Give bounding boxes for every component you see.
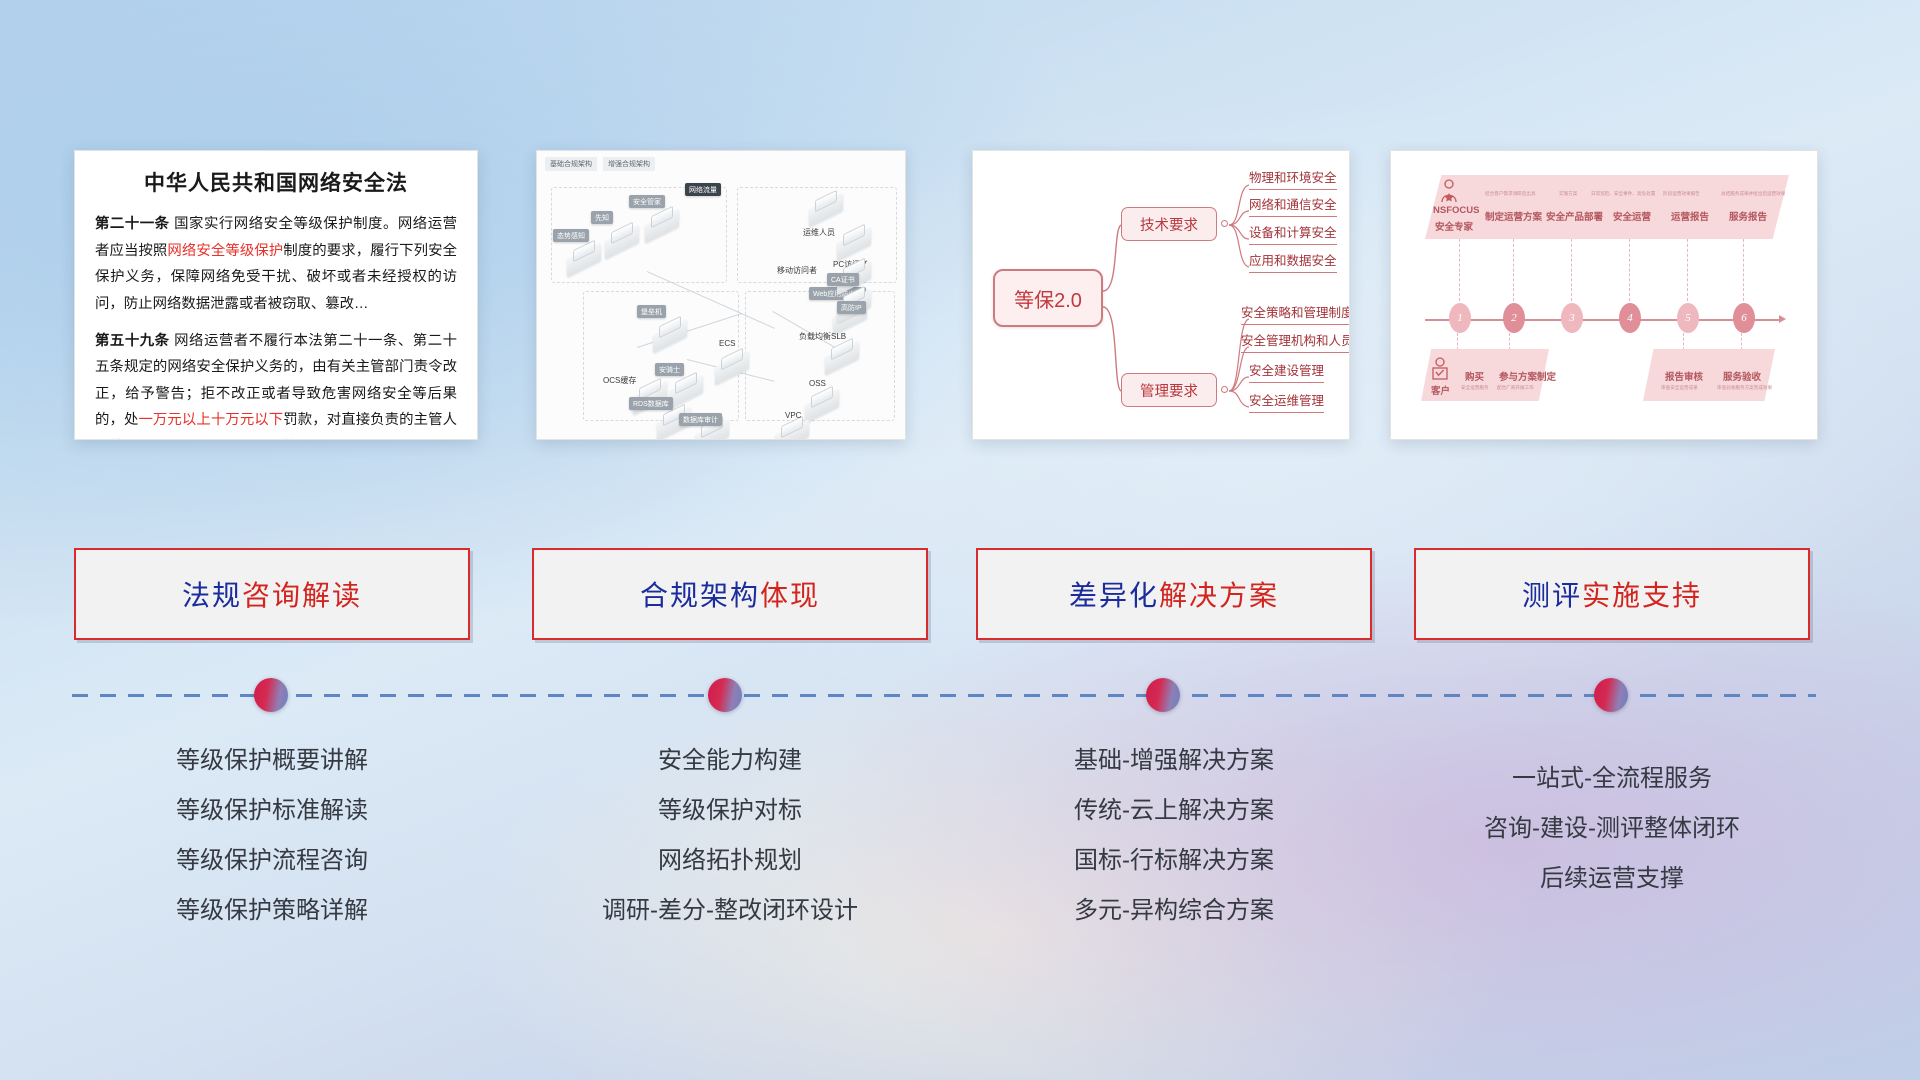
service-connector-5 xyxy=(1687,239,1688,301)
service-connector-6 xyxy=(1743,239,1744,301)
timeline-dashed-line xyxy=(72,694,1816,697)
customer-action-2-sub: 配合厂商开展工作 xyxy=(1497,385,1534,391)
list-item[interactable]: 国标-行标解决方案 xyxy=(976,836,1372,886)
customer-action-4-sub: 审查验收服务方案完成效果 xyxy=(1717,385,1772,391)
timeline-marker-3[interactable] xyxy=(1146,678,1180,712)
mindmap-leaf-tech-1[interactable]: 物理和环境安全 xyxy=(1249,171,1337,190)
architecture-node-icon-xianzhi xyxy=(605,225,639,251)
architecture-tab-group: 基础合规架构 增强合规架构 xyxy=(545,157,655,171)
header-label-differentiated-solution: 差异化解决方案 xyxy=(1069,574,1279,614)
mindmap-leaf-mgmt-3[interactable]: 安全建设管理 xyxy=(1249,364,1324,383)
expert-person-icon xyxy=(1439,179,1459,203)
list-item[interactable]: 一站式-全流程服务 xyxy=(1414,754,1810,804)
architecture-tab-enhanced[interactable]: 增强合规架构 xyxy=(603,157,655,171)
law-article-59: 第五十九条 网络运营者不履行本法第二十一条、第二十五条规定的网络安全保护义务的，… xyxy=(95,328,457,440)
service-step-3-main: 安全运营 xyxy=(1613,209,1651,223)
customer-action-3-sub: 审查安全运营成果 xyxy=(1661,385,1698,391)
service-connector-4 xyxy=(1629,239,1630,301)
law-article-59-text-c: 罚款。 xyxy=(268,439,311,440)
detail-list-regulation-consulting: 等级保护概要讲解 等级保护标准解读 等级保护流程咨询 等级保护策略详解 xyxy=(74,736,470,936)
architecture-node-icon-slb xyxy=(825,341,859,367)
law-article-59-label: 第五十九条 xyxy=(95,333,170,349)
customer-action-1-main: 购买 xyxy=(1465,369,1484,383)
header-label-compliance-architecture: 合规架构体现 xyxy=(640,574,820,614)
mindmap-leaf-mgmt-4[interactable]: 安全运维管理 xyxy=(1249,394,1324,413)
service-step-5-main: 服务报告 xyxy=(1729,209,1767,223)
mindmap-branch-management[interactable]: 管理要求 xyxy=(1121,373,1217,407)
law-article-21: 第二十一条 国家实行网络安全等级保护制度。网络运营者应当按照网络安全等级保护制度… xyxy=(95,211,457,318)
architecture-node-icon-oss xyxy=(805,389,839,415)
law-body: 中华人民共和国网络安全法 第二十一条 国家实行网络安全等级保护制度。网络运营者应… xyxy=(75,151,477,440)
architecture-node-label-network-traffic: 网络流量 xyxy=(685,183,721,196)
list-item[interactable]: 等级保护流程咨询 xyxy=(74,836,470,886)
architecture-node-label-ops-person: 运维人员 xyxy=(799,225,839,239)
expert-brand-label: NSFOCUS xyxy=(1433,205,1479,216)
architecture-node-icon-situational xyxy=(567,243,601,269)
card-cybersecurity-law[interactable]: 中华人民共和国网络安全法 第二十一条 国家实行网络安全等级保护制度。网络运营者应… xyxy=(74,150,478,440)
header-label-blue-4: 测评 xyxy=(1522,580,1582,611)
list-item[interactable]: 基础-增强解决方案 xyxy=(976,736,1372,786)
service-flow-axis xyxy=(1425,319,1781,321)
mindmap-collapse-icon-technical[interactable] xyxy=(1221,220,1228,227)
architecture-node-icon-pc-visitor xyxy=(837,227,871,253)
customer-action-3-main: 报告审核 xyxy=(1665,369,1703,383)
mindmap-leaf-tech-3[interactable]: 设备和计算安全 xyxy=(1249,226,1337,245)
architecture-node-label-anqishi: 安骑士 xyxy=(655,363,684,376)
service-step-marker-4[interactable]: 4 xyxy=(1619,303,1641,333)
architecture-diagram: 基础合规架构 增强合规架构 网络流量 态势感知 先知 安全管家 运维人员 PC访… xyxy=(537,151,905,439)
law-article-21-label: 第二十一条 xyxy=(95,216,170,232)
law-article-59-highlight-1: 一万元以上十万元以下 xyxy=(138,412,283,428)
architecture-node-label-slb: 负载均衡SLB xyxy=(795,329,850,343)
architecture-node-label-xianzhi: 先知 xyxy=(591,211,613,224)
list-item[interactable]: 等级保护标准解读 xyxy=(74,786,470,836)
architecture-node-label-situational: 态势感知 xyxy=(553,229,589,242)
header-label-assessment-support: 测评实施支持 xyxy=(1522,574,1702,614)
header-label-blue-3: 差异化 xyxy=(1069,580,1159,611)
service-step-marker-1[interactable]: 1 xyxy=(1449,303,1471,333)
architecture-node-label-rds: RDS数据库 xyxy=(629,397,673,410)
detail-list-row: 等级保护概要讲解 等级保护标准解读 等级保护流程咨询 等级保护策略详解 安全能力… xyxy=(0,736,1920,966)
list-item[interactable]: 安全能力构建 xyxy=(532,736,928,786)
service-connector-1 xyxy=(1459,239,1460,301)
list-item[interactable]: 咨询-建设-测评整体闭环 xyxy=(1414,804,1810,854)
law-article-59-highlight-2: 五千元以上五万元以下 xyxy=(124,439,268,440)
detail-list-differentiated-solution: 基础-增强解决方案 传统-云上解决方案 国标-行标解决方案 多元-异构综合方案 xyxy=(976,736,1372,936)
card-service-flow[interactable]: NSFOCUS 安全专家 结合客户需求调研后出具 制定运营方案 实施方案 安全产… xyxy=(1390,150,1818,440)
list-item[interactable]: 等级保护对标 xyxy=(532,786,928,836)
architecture-node-label-vpc: VPC xyxy=(781,409,805,421)
service-step-4-sub: 阶段运营效果报告 xyxy=(1663,191,1700,197)
architecture-node-label-db-audit: 数据库审计 xyxy=(679,413,722,426)
architecture-node-icon-ops-person xyxy=(809,193,843,219)
header-label-blue-2: 合规架构 xyxy=(640,580,760,611)
header-box-assessment-support[interactable]: 测评实施支持 xyxy=(1414,548,1810,640)
architecture-node-label-ocs: OCS缓存 xyxy=(599,373,640,387)
expert-role-label: 安全专家 xyxy=(1435,219,1473,233)
mindmap-collapse-icon-management[interactable] xyxy=(1221,386,1228,393)
architecture-node-label-guardian: 安全管家 xyxy=(629,195,665,208)
service-step-marker-2[interactable]: 2 xyxy=(1503,303,1525,333)
timeline-marker-2[interactable] xyxy=(708,678,742,712)
architecture-node-icon-bastion xyxy=(653,319,687,345)
detail-list-assessment-support: 一站式-全流程服务 咨询-建设-测评整体闭环 后续运营支撑 xyxy=(1414,754,1810,904)
law-title: 中华人民共和国网络安全法 xyxy=(95,167,457,197)
law-article-21-highlight: 网络安全等级保护 xyxy=(167,243,283,259)
list-item[interactable]: 网络拓扑规划 xyxy=(532,836,928,886)
list-item[interactable]: 多元-异构综合方案 xyxy=(976,886,1372,936)
service-step-3-sub: 日常巡检、安全事件、高危处置 xyxy=(1591,191,1655,197)
mindmap-leaf-mgmt-2[interactable]: 安全管理机构和人员 xyxy=(1241,334,1350,353)
mindmap: 等保2.0 技术要求 管理要求 物理和环境安全 网络和通信安全 设备和计算安全 … xyxy=(973,151,1349,439)
header-box-regulation-consulting[interactable]: 法规咨询解读 xyxy=(74,548,470,640)
list-item[interactable]: 传统-云上解决方案 xyxy=(976,786,1372,836)
detail-list-compliance-architecture: 安全能力构建 等级保护对标 网络拓扑规划 调研-差分-整改闭环设计 xyxy=(532,736,928,936)
header-label-blue-1: 法规 xyxy=(182,580,242,611)
list-item[interactable]: 后续运营支撑 xyxy=(1414,854,1810,904)
customer-action-4-main: 服务验收 xyxy=(1723,369,1761,383)
architecture-node-icon-ecs xyxy=(715,351,749,377)
architecture-tab-basic[interactable]: 基础合规架构 xyxy=(545,157,597,171)
list-item[interactable]: 等级保护策略详解 xyxy=(74,886,470,936)
header-label-red-3: 解决方案 xyxy=(1159,580,1279,611)
header-box-differentiated-solution[interactable]: 差异化解决方案 xyxy=(976,548,1372,640)
architecture-node-label-oss: OSS xyxy=(805,377,830,389)
customer-action-1-sub: 安全运营服务 xyxy=(1461,385,1489,391)
service-step-marker-6[interactable]: 6 xyxy=(1733,303,1755,333)
service-flow-diagram: NSFOCUS 安全专家 结合客户需求调研后出具 制定运营方案 实施方案 安全产… xyxy=(1391,151,1817,439)
header-label-red-1: 咨询解读 xyxy=(242,580,362,611)
service-step-2-sub: 实施方案 xyxy=(1559,191,1577,197)
architecture-node-icon-guardian xyxy=(645,209,679,235)
header-box-compliance-architecture[interactable]: 合规架构体现 xyxy=(532,548,928,640)
header-label-regulation-consulting: 法规咨询解读 xyxy=(182,574,362,614)
architecture-node-label-bastion: 堡垒机 xyxy=(637,305,666,318)
card-mindmap-dengbao[interactable]: 等保2.0 技术要求 管理要求 物理和环境安全 网络和通信安全 设备和计算安全 … xyxy=(972,150,1350,440)
timeline-marker-4[interactable] xyxy=(1594,678,1628,712)
service-connector-3 xyxy=(1571,239,1572,301)
mindmap-leaf-tech-4[interactable]: 应用和数据安全 xyxy=(1249,254,1337,273)
mindmap-leaf-mgmt-1[interactable]: 安全策略和管理制度 xyxy=(1241,306,1350,325)
service-step-1-main: 制定运营方案 xyxy=(1485,209,1542,223)
architecture-node-label-ca: CA证书 xyxy=(827,273,859,286)
service-step-marker-3[interactable]: 3 xyxy=(1561,303,1583,333)
customer-role-label: 客户 xyxy=(1431,383,1450,397)
service-connector-2 xyxy=(1513,239,1514,301)
service-step-4-main: 运营报告 xyxy=(1671,209,1709,223)
mindmap-root-node[interactable]: 等保2.0 xyxy=(993,269,1103,327)
list-item[interactable]: 调研-差分-整改闭环设计 xyxy=(532,886,928,936)
mindmap-branch-technical[interactable]: 技术要求 xyxy=(1121,207,1217,241)
card-cloud-architecture[interactable]: 基础合规架构 增强合规架构 网络流量 态势感知 先知 安全管家 运维人员 PC访… xyxy=(536,150,906,440)
service-step-5-sub: 总结服务成果并给出后运营效果 xyxy=(1721,191,1785,197)
service-step-2-main: 安全产品部署 xyxy=(1546,209,1603,223)
customer-action-2-main: 参与方案制定 xyxy=(1499,369,1556,383)
timeline xyxy=(0,668,1920,724)
reference-card-row: 中华人民共和国网络安全法 第二十一条 国家实行网络安全等级保护制度。网络运营者应… xyxy=(0,0,1920,440)
section-header-row: 法规咨询解读 合规架构体现 差异化解决方案 测评实施支持 xyxy=(0,548,1920,644)
architecture-node-icon-vpc xyxy=(775,419,809,440)
timeline-marker-1[interactable] xyxy=(254,678,288,712)
architecture-node-label-anti-ddos: 高防IP xyxy=(837,301,866,314)
architecture-node-label-ecs: ECS xyxy=(715,337,739,349)
header-label-red-2: 体现 xyxy=(760,580,820,611)
customer-person-icon xyxy=(1431,357,1449,381)
service-step-1-sub: 结合客户需求调研后出具 xyxy=(1485,191,1536,197)
header-label-red-4: 实施支持 xyxy=(1582,580,1702,611)
mindmap-leaf-tech-2[interactable]: 网络和通信安全 xyxy=(1249,198,1337,217)
service-step-marker-5[interactable]: 5 xyxy=(1677,303,1699,333)
list-item[interactable]: 等级保护概要讲解 xyxy=(74,736,470,786)
architecture-node-icon-anqishi xyxy=(669,375,703,401)
architecture-node-label-mobile-visitor: 移动访问者 xyxy=(773,263,821,277)
service-flow-expert-band xyxy=(1425,175,1789,239)
service-flow-arrow-icon xyxy=(1779,315,1786,323)
